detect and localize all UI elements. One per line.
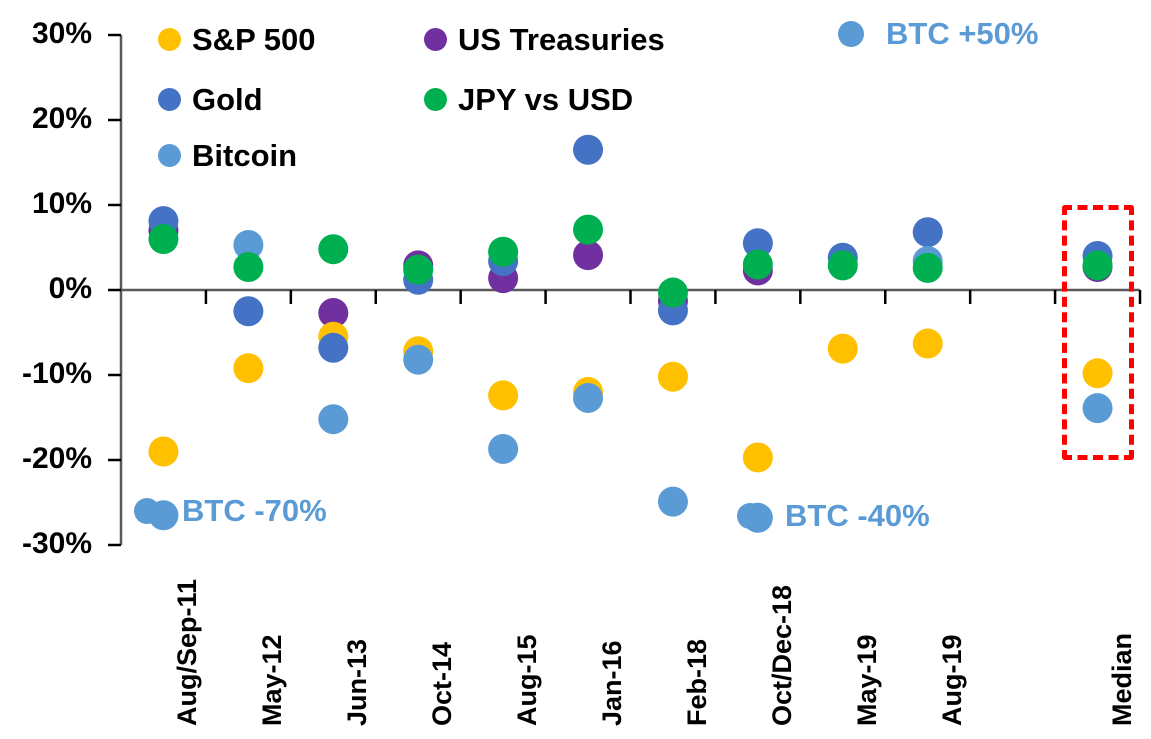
annotation-marker-icon (838, 21, 864, 47)
annotation-label: BTC +50% (886, 18, 1038, 49)
data-point (233, 353, 263, 383)
chart-container: 30%20%10%0%-10%-20%-30% Aug/Sep-11May-12… (0, 0, 1151, 739)
x-axis-tick-label: Aug/Sep-11 (174, 579, 201, 726)
legend-label: US Treasuries (458, 24, 665, 55)
x-axis-tick-label: Aug-19 (939, 634, 966, 726)
legend-marker-icon (424, 88, 447, 111)
legend-marker-icon (158, 28, 181, 51)
x-axis-tick-label: Aug-15 (514, 634, 541, 726)
data-point (658, 278, 688, 308)
data-point (403, 255, 433, 285)
data-point (573, 383, 603, 413)
data-point (658, 362, 688, 392)
x-axis-tick-label: Jan-16 (599, 640, 626, 726)
series-us-treasuries (148, 216, 1112, 328)
legend-marker-icon (158, 88, 181, 111)
legend-marker-icon (424, 28, 447, 51)
legend-label: Bitcoin (192, 140, 297, 171)
data-point (573, 135, 603, 165)
data-point (913, 329, 943, 359)
data-point (573, 215, 603, 245)
data-point (828, 250, 858, 280)
legend-item-bitcoin[interactable]: Bitcoin (158, 140, 297, 171)
x-axis-tick-label: Median (1109, 633, 1136, 726)
x-axis-tick-label: Jun-13 (344, 639, 371, 726)
legend-label: Gold (192, 84, 263, 115)
data-point (318, 234, 348, 264)
legend-item-gold[interactable]: Gold (158, 84, 263, 115)
data-point (233, 252, 263, 282)
legend-marker-icon (158, 144, 181, 167)
x-axis-tick-label: Oct-14 (429, 642, 456, 726)
data-point (1083, 250, 1113, 280)
data-point (318, 404, 348, 434)
data-point (488, 434, 518, 464)
data-point (148, 224, 178, 254)
data-point (488, 237, 518, 267)
data-point (828, 334, 858, 364)
annotation-btc-minus-40: BTC -40% (737, 500, 930, 531)
annotation-label: BTC -70% (182, 495, 327, 526)
annotation-marker-icon (134, 498, 160, 524)
legend-label: S&P 500 (192, 24, 316, 55)
data-point (913, 217, 943, 247)
data-point (318, 333, 348, 363)
x-axis-tick-label: Oct/Dec-18 (769, 585, 796, 726)
annotation-btc-plus-50: BTC +50% (838, 18, 1038, 49)
data-point (1083, 358, 1113, 388)
data-point (743, 442, 773, 472)
data-point (403, 345, 433, 375)
legend-item-s-p-500[interactable]: S&P 500 (158, 24, 316, 55)
data-point (913, 253, 943, 283)
data-point (233, 296, 263, 326)
annotation-marker-icon (737, 503, 763, 529)
x-axis-tick-label: May-19 (854, 634, 881, 726)
data-point (1083, 393, 1113, 423)
x-axis-tick-label: May-12 (259, 634, 286, 726)
data-point (658, 487, 688, 517)
series-bitcoin (148, 230, 1112, 533)
data-point (743, 250, 773, 280)
data-point (148, 437, 178, 467)
legend-label: JPY vs USD (458, 84, 633, 115)
annotation-btc-minus-70: BTC -70% (134, 495, 327, 526)
x-axis-tick-label: Feb-18 (684, 639, 711, 726)
data-point (488, 380, 518, 410)
legend-item-us-treasuries[interactable]: US Treasuries (424, 24, 665, 55)
annotation-label: BTC -40% (785, 500, 930, 531)
legend-item-jpy-vs-usd[interactable]: JPY vs USD (424, 84, 633, 115)
series-s-p-500 (148, 322, 1112, 473)
